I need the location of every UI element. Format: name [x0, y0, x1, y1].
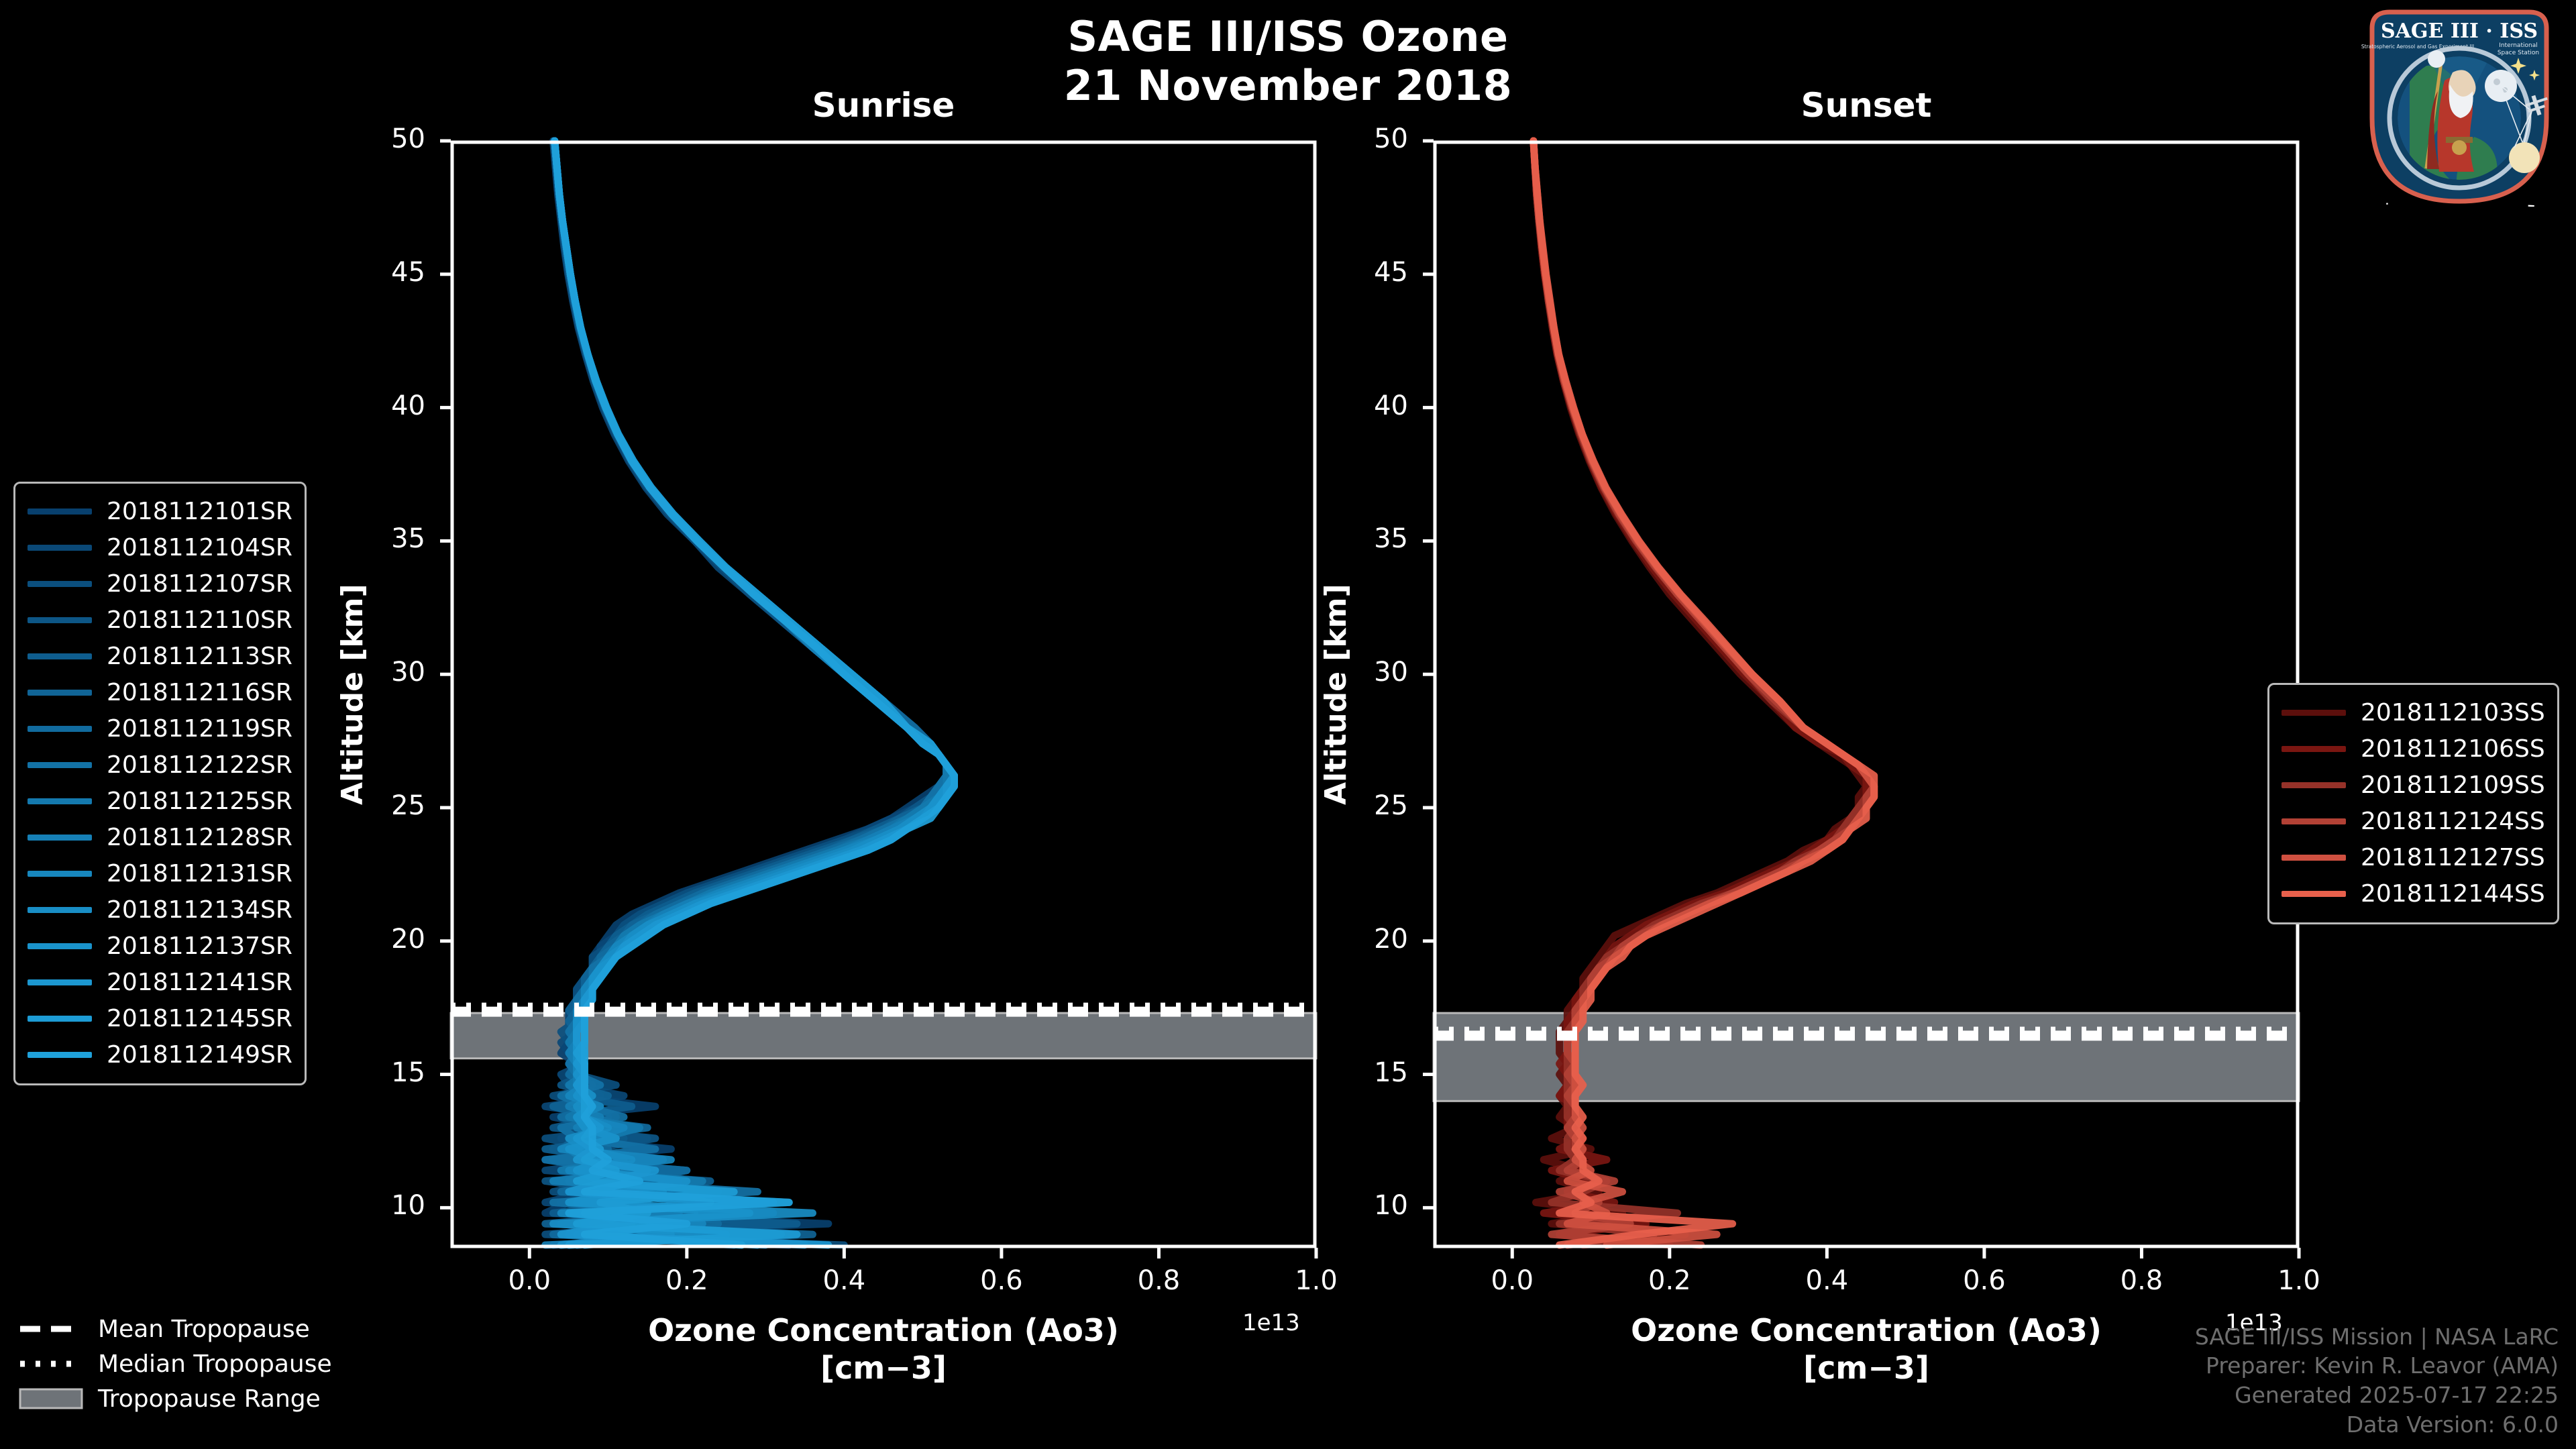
- legend-label: 2018112137SR: [107, 932, 292, 960]
- sunrise-x-axis-label: Ozone Concentration (Ao3) [cm−3]: [451, 1311, 1316, 1387]
- sunset-panel-title: Sunset: [1434, 86, 2299, 125]
- sunrise-ytick-25: 25: [391, 790, 425, 821]
- legend-label: 2018112124SS: [2361, 808, 2545, 835]
- legend-row[interactable]: 2018112127SS: [2282, 839, 2545, 875]
- legend-color-swatch: [28, 1052, 92, 1058]
- legend-label: 2018112127SS: [2361, 844, 2545, 871]
- credits-line-4: Data Version: 6.0.0: [2195, 1410, 2559, 1440]
- legend-label: 2018112107SR: [107, 570, 292, 598]
- sunrise-ytick-20: 20: [391, 924, 425, 955]
- legend-color-swatch: [2282, 818, 2346, 824]
- sunset-plot: [1434, 141, 2299, 1248]
- legend-label: 2018112103SS: [2361, 699, 2545, 727]
- sunset-xtick-0.4: 0.4: [1806, 1265, 1849, 1296]
- legend-row[interactable]: 2018112113SR: [28, 638, 292, 674]
- sunset-ytick-25: 25: [1374, 790, 1408, 821]
- sunrise-ytick-50: 50: [391, 123, 425, 154]
- legend-label-tropopause-range: Tropopause Range: [98, 1385, 321, 1413]
- patch-title: SAGE III · ISS: [2381, 19, 2538, 43]
- sunset-x-axis-label-line2: [cm−3]: [1434, 1349, 2299, 1387]
- legend-color-swatch: [28, 762, 92, 768]
- sage-iii-iss-mission-patch-icon: SAGE III · ISS Stratospheric Aerosol and…: [2359, 5, 2560, 207]
- legend-label: 2018112106SS: [2361, 735, 2545, 763]
- legend-color-swatch: [28, 871, 92, 877]
- legend-row[interactable]: 2018112116SR: [28, 674, 292, 710]
- legend-row[interactable]: 2018112149SR: [28, 1036, 292, 1073]
- legend-label: 2018112131SR: [107, 860, 292, 888]
- sunrise-ytick-45: 45: [391, 257, 425, 288]
- legend-color-swatch: [28, 617, 92, 623]
- dotted-line-icon: [19, 1359, 83, 1368]
- sunset-xtick-1.0: 1.0: [2277, 1265, 2320, 1296]
- sunrise-ytick-30: 30: [391, 657, 425, 688]
- sunrise-panel-title: Sunrise: [451, 86, 1316, 125]
- legend-color-swatch: [2282, 782, 2346, 788]
- sunset-x-axis-label: Ozone Concentration (Ao3) [cm−3]: [1434, 1311, 2299, 1387]
- legend-color-swatch: [28, 943, 92, 949]
- sunrise-xtick-0.4: 0.4: [823, 1265, 866, 1296]
- credits-line-1: SAGE III/ISS Mission | NASA LaRC: [2195, 1322, 2559, 1352]
- legend-row[interactable]: 2018112110SR: [28, 602, 292, 638]
- sunset-ytick-10: 10: [1374, 1190, 1408, 1221]
- legend-label: 2018112110SR: [107, 606, 292, 634]
- patch-subtitle-right-2: Space Station: [2498, 50, 2539, 56]
- legend-label: 2018112113SR: [107, 643, 292, 670]
- legend-row[interactable]: 2018112101SR: [28, 493, 292, 529]
- sunset-ytick-45: 45: [1374, 257, 1408, 288]
- legend-row-mean-tropopause: Mean Tropopause: [19, 1311, 332, 1346]
- sunrise-xtick-0.2: 0.2: [665, 1265, 708, 1296]
- legend-label: 2018112109SS: [2361, 771, 2545, 799]
- legend-row[interactable]: 2018112107SR: [28, 566, 292, 602]
- sunset-ytick-15: 15: [1374, 1057, 1408, 1088]
- sunset-xtick-0.0: 0.0: [1491, 1265, 1534, 1296]
- legend-row[interactable]: 2018112124SS: [2282, 803, 2545, 839]
- legend-label: 2018112119SR: [107, 715, 292, 743]
- legend-color-swatch: [28, 653, 92, 659]
- legend-color-swatch: [28, 798, 92, 804]
- legend-label: 2018112116SR: [107, 679, 292, 706]
- sunrise-xtick-0.8: 0.8: [1138, 1265, 1181, 1296]
- legend-label: 2018112125SR: [107, 788, 292, 815]
- sunset-x-axis-label-line1: Ozone Concentration (Ao3): [1434, 1311, 2299, 1349]
- legend-label: 2018112134SR: [107, 896, 292, 924]
- legend-label: 2018112144SS: [2361, 880, 2545, 908]
- sunrise-exponent-label: 1e13: [1242, 1309, 1300, 1336]
- legend-row[interactable]: 2018112104SR: [28, 529, 292, 566]
- legend-label: 2018112145SR: [107, 1005, 292, 1032]
- legend-row[interactable]: 2018112131SR: [28, 855, 292, 892]
- sunset-ytick-35: 35: [1374, 523, 1408, 554]
- credits-line-2: Preparer: Kevin R. Leavor (AMA): [2195, 1351, 2559, 1381]
- legend-row-tropopause-range: Tropopause Range: [19, 1381, 332, 1416]
- sunrise-xtick-0.0: 0.0: [508, 1265, 551, 1296]
- legend-color-swatch: [2282, 710, 2346, 716]
- title-line-1: SAGE III/ISS Ozone: [0, 12, 2576, 61]
- dashed-line-icon: [19, 1324, 83, 1334]
- sunrise-ytick-10: 10: [391, 1190, 425, 1221]
- legend-row[interactable]: 2018112144SS: [2282, 875, 2545, 912]
- legend-color-swatch: [28, 690, 92, 696]
- legend-row[interactable]: 2018112145SR: [28, 1000, 292, 1036]
- sunset-xtick-0.2: 0.2: [1648, 1265, 1691, 1296]
- patch-subtitle-right-1: International: [2499, 42, 2537, 49]
- legend-row[interactable]: 2018112141SR: [28, 964, 292, 1000]
- legend-color-swatch: [2282, 746, 2346, 752]
- legend-row[interactable]: 2018112134SR: [28, 892, 292, 928]
- legend-row[interactable]: 2018112128SR: [28, 819, 292, 855]
- sunset-y-axis-label: Altitude [km]: [1319, 584, 1353, 805]
- legend-label: 2018112128SR: [107, 824, 292, 851]
- legend-color-swatch: [28, 979, 92, 985]
- legend-color-swatch: [28, 726, 92, 732]
- sunset-ytick-20: 20: [1374, 924, 1408, 955]
- legend-color-swatch: [28, 545, 92, 551]
- legend-color-swatch: [28, 581, 92, 587]
- legend-color-swatch: [2282, 855, 2346, 861]
- credits-block: SAGE III/ISS Mission | NASA LaRC Prepare…: [2195, 1322, 2559, 1440]
- legend-color-swatch: [2282, 891, 2346, 897]
- sunrise-x-axis-label-line1: Ozone Concentration (Ao3): [451, 1311, 1316, 1349]
- legend-label: 2018112149SR: [107, 1041, 292, 1069]
- legend-label: 2018112104SR: [107, 534, 292, 561]
- sunset-ytick-30: 30: [1374, 657, 1408, 688]
- sunrise-x-axis-label-line2: [cm−3]: [451, 1349, 1316, 1387]
- sunrise-xtick-0.6: 0.6: [980, 1265, 1023, 1296]
- legend-label-mean-tropopause: Mean Tropopause: [98, 1316, 310, 1343]
- legend-color-swatch: [28, 835, 92, 841]
- range-swatch-icon: [19, 1387, 83, 1410]
- sunrise-ytick-40: 40: [391, 390, 425, 421]
- sunset-xtick-0.8: 0.8: [2121, 1265, 2163, 1296]
- legend-row[interactable]: 2018112103SS: [2282, 694, 2545, 731]
- legend-color-swatch: [28, 508, 92, 515]
- legend-row[interactable]: 2018112125SR: [28, 783, 292, 819]
- legend-row[interactable]: 2018112122SR: [28, 747, 292, 783]
- legend-label-median-tropopause: Median Tropopause: [98, 1350, 332, 1378]
- sunset-xtick-0.6: 0.6: [1963, 1265, 2006, 1296]
- legend-row[interactable]: 2018112119SR: [28, 710, 292, 747]
- sunset-legend[interactable]: 2018112103SS2018112106SS2018112109SS2018…: [2267, 683, 2559, 924]
- legend-label: 2018112122SR: [107, 751, 292, 779]
- legend-label: 2018112141SR: [107, 969, 292, 996]
- sunset-ytick-50: 50: [1374, 123, 1408, 154]
- credits-line-3: Generated 2025-07-17 22:25: [2195, 1381, 2559, 1410]
- sunrise-legend[interactable]: 2018112101SR2018112104SR2018112107SR2018…: [13, 482, 307, 1085]
- sunrise-ytick-15: 15: [391, 1057, 425, 1088]
- legend-color-swatch: [28, 1016, 92, 1022]
- legend-color-swatch: [28, 907, 92, 913]
- sunrise-plot: [451, 141, 1316, 1248]
- legend-row[interactable]: 2018112109SS: [2282, 767, 2545, 803]
- sunrise-y-axis-label: Altitude [km]: [335, 584, 370, 805]
- legend-label: 2018112101SR: [107, 498, 292, 525]
- tropopause-legend: Mean Tropopause Median Tropopause Tropop…: [19, 1311, 332, 1416]
- legend-row[interactable]: 2018112137SR: [28, 928, 292, 964]
- sunrise-xtick-1.0: 1.0: [1295, 1265, 1338, 1296]
- sunset-ytick-40: 40: [1374, 390, 1408, 421]
- sunrise-ytick-35: 35: [391, 523, 425, 554]
- legend-row[interactable]: 2018112106SS: [2282, 731, 2545, 767]
- legend-row-median-tropopause: Median Tropopause: [19, 1346, 332, 1381]
